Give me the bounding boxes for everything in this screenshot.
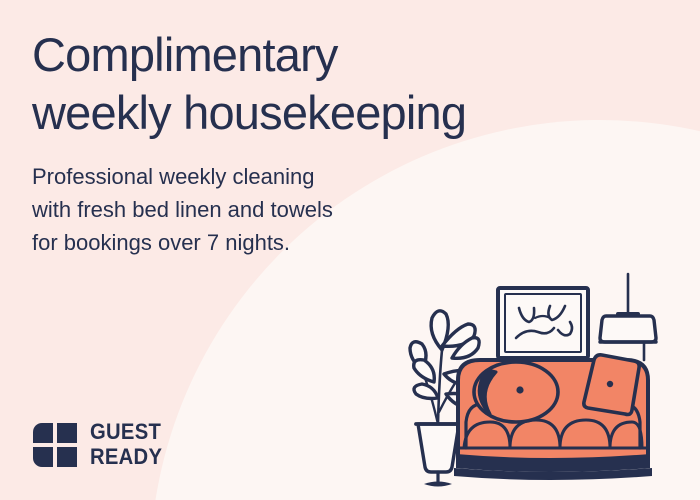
framed-art-icon xyxy=(498,288,588,358)
logo-line-1: GUEST xyxy=(90,421,162,443)
copy-block: Complimentary weekly housekeeping Profes… xyxy=(32,26,592,259)
promo-banner: Complimentary weekly housekeeping Profes… xyxy=(0,0,700,500)
round-cushion-icon xyxy=(474,362,558,422)
logo-wordmark: GUEST READY xyxy=(90,421,169,468)
page-title: Complimentary weekly housekeeping xyxy=(32,26,592,142)
living-room-illustration xyxy=(398,262,698,500)
coral-sofa-icon xyxy=(454,355,652,480)
brand-logo[interactable]: GUEST READY xyxy=(32,421,169,468)
pendant-lamp-icon xyxy=(600,274,656,360)
page-subtitle: Professional weekly cleaning with fresh … xyxy=(32,160,592,259)
logo-line-2: READY xyxy=(90,446,162,468)
square-pillow-icon xyxy=(584,355,639,415)
guestready-mark-icon xyxy=(32,422,78,468)
